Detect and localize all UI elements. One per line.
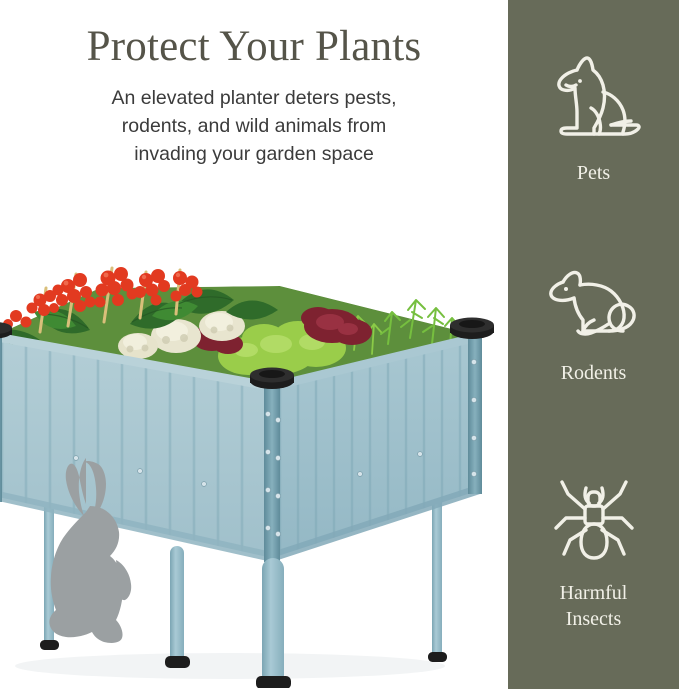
- feature-rodents: Rodents: [508, 258, 679, 386]
- dog-icon: [539, 40, 649, 150]
- left-content-pane: Protect Your Plants An elevated planter …: [0, 0, 508, 689]
- page-title: Protect Your Plants: [0, 22, 508, 72]
- feature-label-pets: Pets: [508, 160, 679, 186]
- rodent-icon: [539, 258, 649, 350]
- leg-foot-cap: [428, 652, 447, 662]
- subtitle-line-2: rodents, and wild animals from: [40, 112, 468, 140]
- rabbit-silhouette: [24, 448, 154, 648]
- corner-cap: [450, 318, 494, 340]
- leg-foot-cap: [165, 656, 190, 668]
- features-sidebar: Pets Rodents: [508, 0, 679, 689]
- feature-harmful-insects: Harmful Insects: [508, 470, 679, 632]
- feature-pets: Pets: [508, 40, 679, 186]
- subtitle-line-3: invading your garden space: [40, 140, 468, 168]
- ground-shadow: [15, 653, 445, 679]
- feature-label-harmful-insects: Harmful Insects: [508, 580, 679, 632]
- product-feature-image: Protect Your Plants An elevated planter …: [0, 0, 679, 689]
- feature-label-line-2: Insects: [508, 606, 679, 632]
- leg-foot-cap: [256, 676, 291, 688]
- corner-cap: [250, 368, 294, 390]
- feature-label-rodents: Rodents: [508, 360, 679, 386]
- insect-icon: [544, 470, 644, 570]
- subtitle: An elevated planter deters pests, rodent…: [40, 84, 468, 168]
- subtitle-line-1: An elevated planter deters pests,: [40, 84, 468, 112]
- feature-label-line-1: Harmful: [508, 580, 679, 606]
